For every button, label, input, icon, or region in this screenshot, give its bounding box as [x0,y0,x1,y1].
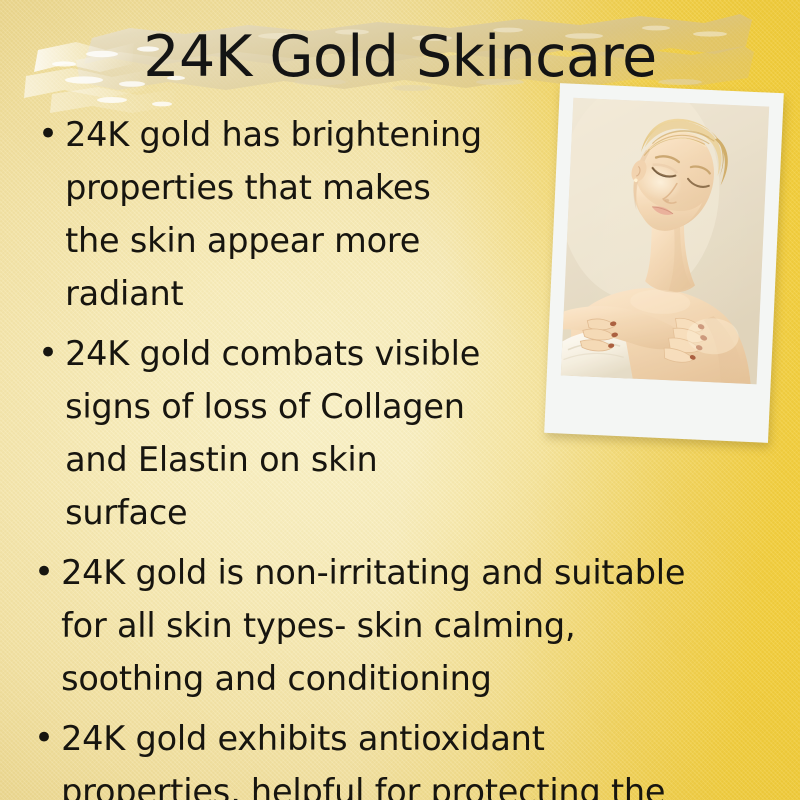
bullet-marker-icon: • [34,712,54,765]
page-title: 24K Gold Skincare [0,28,800,88]
bullet-marker-icon: • [38,327,58,380]
list-item-non-irritating: • 24K gold is non-irritating and suitabl… [0,546,800,705]
bullet-marker-icon: • [38,108,58,161]
polaroid-photo-frame [544,83,784,443]
photo-image [561,98,769,385]
list-item-text: 24K gold combats visible signs of loss o… [65,327,495,539]
list-item-text: 24K gold exhibits antioxidant properties… [61,712,701,800]
bullet-marker-icon: • [34,546,54,599]
list-item-text: 24K gold is non-irritating and suitable … [61,546,701,705]
poster-canvas: 24K Gold Skincare • 24K gold has brighte… [0,0,800,800]
list-item-antioxidant: • 24K gold exhibits antioxidant properti… [0,712,800,800]
list-item-text: 24K gold has brightening properties that… [65,108,495,320]
